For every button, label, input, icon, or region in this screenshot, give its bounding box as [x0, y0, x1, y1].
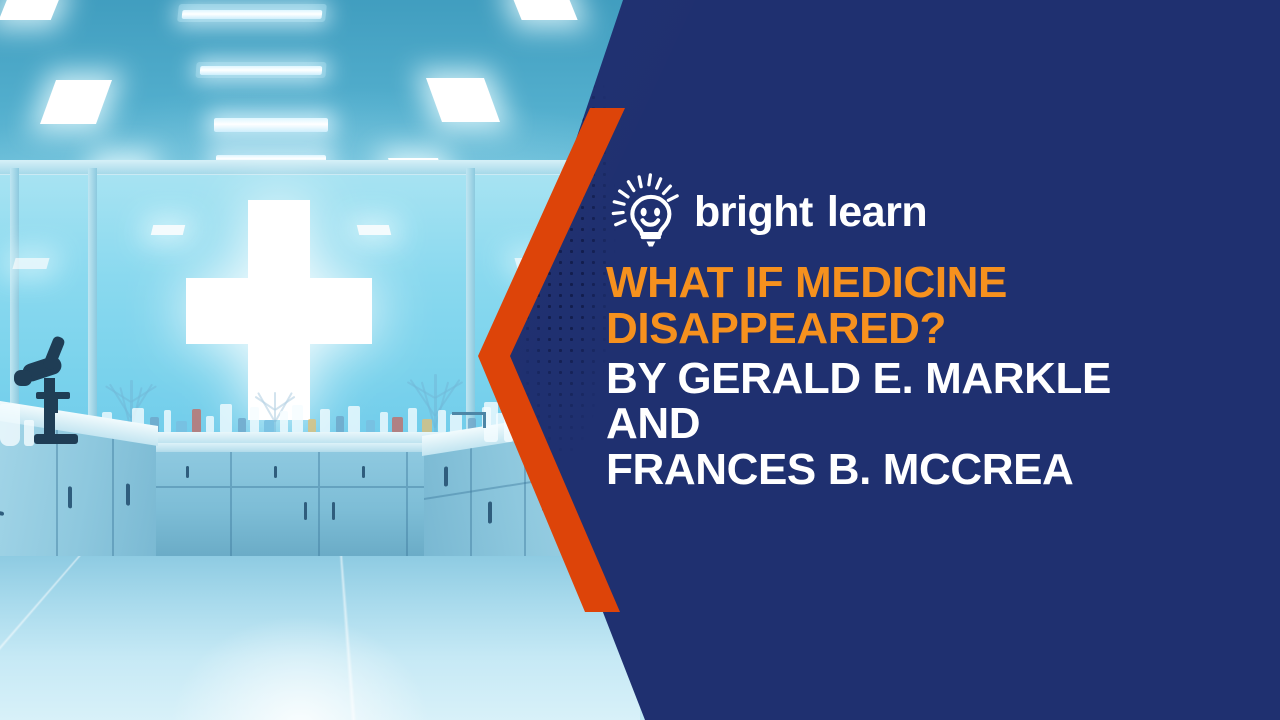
byline-line-3: FRANCES B. MCCREA — [606, 447, 1226, 493]
faucet-icon — [452, 412, 488, 434]
ceiling-tube-light — [182, 10, 323, 19]
brand-wordmark: brightlearn — [694, 191, 927, 234]
headline-line-2: DISAPPEARED? — [606, 304, 946, 353]
author-credit: BY GERALD E. MARKLEANDFRANCES B. MCCREA — [606, 356, 1226, 493]
left-bench-glassware — [0, 400, 40, 446]
headline-line-1: WHAT IF MEDICINE — [606, 258, 1007, 307]
ceiling-panel-light — [510, 0, 577, 20]
byline-line-1: BY GERALD E. MARKLE — [606, 356, 1226, 402]
lightbulb-smile-icon — [606, 173, 684, 251]
content-block: brightlearn WHAT IF MEDICINEDISAPPEARED?… — [606, 172, 1246, 493]
brand-logo[interactable]: brightlearn — [606, 172, 1246, 252]
page-title: WHAT IF MEDICINEDISAPPEARED? — [606, 260, 1206, 352]
reflected-light — [151, 225, 185, 235]
thumbnail-canvas: brightlearn WHAT IF MEDICINEDISAPPEARED?… — [0, 0, 1280, 720]
reflected-light — [12, 258, 49, 269]
byline-line-2: AND — [606, 401, 1226, 447]
floor-reflection — [150, 556, 450, 720]
ceiling-tube-light — [200, 66, 323, 75]
brand-word-bright: bright — [694, 188, 813, 236]
ceiling-tube-light — [214, 118, 328, 132]
brand-word-learn: learn — [827, 188, 927, 236]
